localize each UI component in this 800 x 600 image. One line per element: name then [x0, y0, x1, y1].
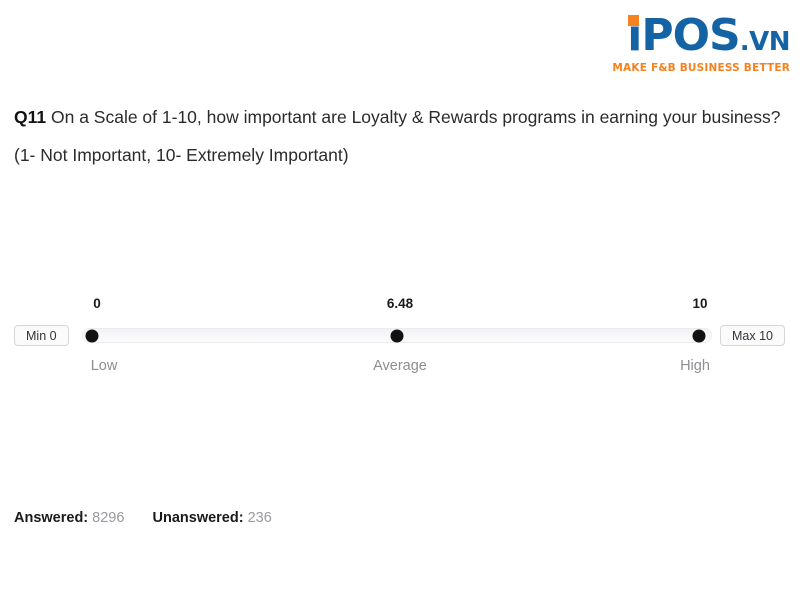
value-label-average: 6.48: [387, 296, 413, 311]
logo-wordmark: i POS.VN: [612, 14, 790, 58]
logo-letter-i: i: [627, 14, 641, 58]
logo-tagline: MAKE F&B BUSINESS BETTER: [612, 63, 790, 74]
question-number: Q11: [14, 107, 46, 127]
ipos-logo: i POS.VN MAKE F&B BUSINESS BETTER: [612, 14, 790, 74]
scale-caption-labels: Low Average High: [0, 358, 800, 380]
caption-high: High: [680, 358, 710, 374]
logo-tld-text: .VN: [740, 27, 790, 57]
question-body: On a Scale of 1-10, how important are Lo…: [14, 107, 781, 165]
answered-value: 8296: [92, 510, 124, 526]
scale-slider-row: Min 0 Max 10: [0, 324, 800, 350]
caption-low: Low: [91, 358, 118, 374]
question-text: Q11 On a Scale of 1-10, how important ar…: [14, 98, 784, 174]
unanswered-label: Unanswered:: [153, 510, 244, 526]
slider-track[interactable]: [82, 328, 712, 343]
logo-orange-dot-icon: [628, 15, 639, 26]
unanswered-value: 236: [248, 510, 272, 526]
min-badge[interactable]: Min 0: [14, 325, 69, 346]
slider-handle-average[interactable]: [391, 329, 404, 342]
value-label-min: 0: [93, 296, 101, 311]
scale-value-labels: 0 6.48 10: [0, 296, 800, 320]
response-counts: Answered: 8296 Unanswered: 236: [14, 510, 272, 526]
caption-average: Average: [373, 358, 427, 374]
scale-slider-widget: 0 6.48 10 Min 0 Max 10 Low Average High: [0, 296, 800, 386]
max-badge[interactable]: Max 10: [720, 325, 785, 346]
slider-handle-min[interactable]: [86, 329, 99, 342]
logo-pos-text: POS: [641, 10, 739, 61]
answered-label: Answered:: [14, 510, 88, 526]
value-label-max: 10: [692, 296, 707, 311]
slider-handle-max[interactable]: [693, 329, 706, 342]
